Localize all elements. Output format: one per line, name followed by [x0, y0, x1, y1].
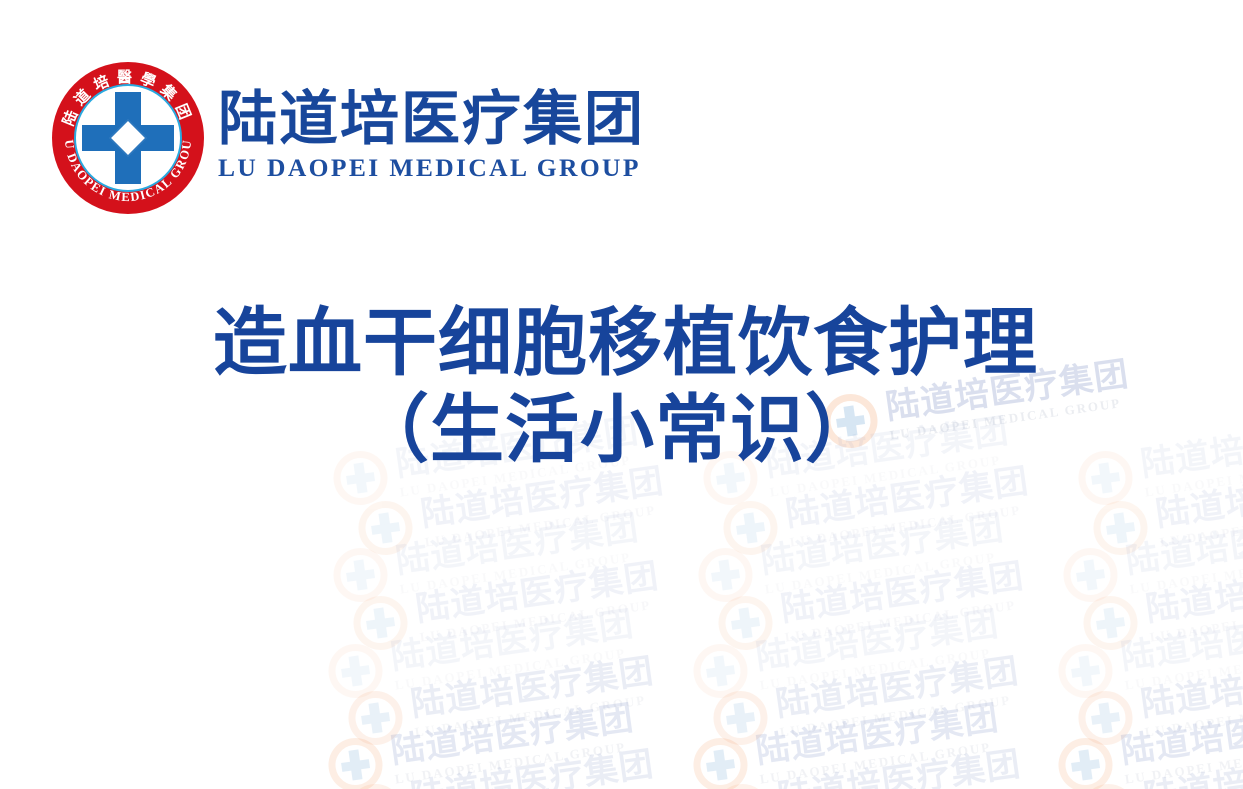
- watermark-ring: [712, 780, 773, 789]
- watermark-text-cn: 陆道培医疗集团: [1139, 653, 1243, 721]
- watermark-text: 陆道培医疗集团LU DAOPEI MEDICAL GROUP: [779, 558, 1029, 643]
- watermark-cross-vertical: [733, 702, 747, 733]
- watermark-emblem-icon: [720, 497, 781, 558]
- watermark-cross-vertical: [743, 512, 757, 543]
- brand-name-en: LU DAOPEI MEDICAL GROUP: [218, 153, 645, 183]
- watermark-tile: 陆道培医疗集团LU DAOPEI MEDICAL GROUP: [325, 699, 639, 789]
- watermark-tile: 陆道培医疗集团LU DAOPEI MEDICAL GROUP: [330, 509, 644, 605]
- watermark-cross-horizontal: [1096, 617, 1125, 630]
- watermark-cross-horizontal: [1076, 569, 1105, 582]
- watermark-emblem-icon: [715, 592, 776, 653]
- watermark-tile: 陆道培医疗集团LU DAOPEI MEDICAL GROUP: [345, 745, 659, 789]
- watermark-text-cn: 陆道培医疗集团: [394, 510, 641, 578]
- watermark-ring: [1060, 544, 1121, 605]
- watermark-text-cn: 陆道培医疗集团: [1119, 606, 1243, 674]
- watermark-emblem-icon: [345, 780, 406, 789]
- watermark-tile: 陆道培医疗集团LU DAOPEI MEDICAL GROUP: [1080, 557, 1243, 653]
- watermark-cross-horizontal: [361, 712, 390, 725]
- brand-header: 陆道培醫學集团 LU DAOPEI MEDICAL GROUP 陆道培医疗集团 …: [52, 62, 645, 214]
- watermark-cross-vertical: [348, 749, 362, 780]
- watermark-text-en: LU DAOPEI MEDICAL GROUP: [784, 596, 1028, 643]
- watermark-cross-horizontal: [706, 759, 735, 772]
- watermark-text-en: LU DAOPEI MEDICAL GROUP: [414, 691, 658, 738]
- watermark-cross-horizontal: [371, 522, 400, 535]
- watermark-text: 陆道培医疗集团LU DAOPEI MEDICAL GROUP: [1119, 700, 1243, 785]
- watermark-text-cn: 陆道培医疗集团: [414, 558, 661, 626]
- watermark-text-cn: 陆道培医疗集团: [774, 653, 1021, 721]
- watermark-ring: [330, 544, 391, 605]
- watermark-emblem-icon: [1078, 780, 1139, 789]
- watermark-text-en: LU DAOPEI MEDICAL GROUP: [759, 644, 1003, 691]
- watermark-emblem-icon: [325, 640, 386, 701]
- watermark-text-cn: 陆道培医疗集团: [409, 746, 656, 789]
- watermark-text-en: LU DAOPEI MEDICAL GROUP: [1144, 691, 1243, 738]
- watermark-cross-horizontal: [1071, 665, 1100, 678]
- watermark-cross-vertical: [1103, 607, 1117, 638]
- watermark-emblem-icon: [1060, 544, 1121, 605]
- watermark-emblem-icon: [355, 497, 416, 558]
- watermark-tile: 陆道培医疗集团LU DAOPEI MEDICAL GROUP: [690, 699, 1004, 789]
- watermark-cross-horizontal: [1091, 712, 1120, 725]
- watermark-text: 陆道培医疗集团LU DAOPEI MEDICAL GROUP: [414, 558, 664, 643]
- slide-title-line-1: 造血干细胞移植饮食护理: [8, 300, 1243, 387]
- watermark-text-en: LU DAOPEI MEDICAL GROUP: [789, 501, 1033, 548]
- watermark-text: 陆道培医疗集团LU DAOPEI MEDICAL GROUP: [1119, 606, 1243, 691]
- watermark-text-en: LU DAOPEI MEDICAL GROUP: [1124, 738, 1243, 785]
- watermark-emblem-icon: [330, 544, 391, 605]
- watermark-tile: 陆道培医疗集团LU DAOPEI MEDICAL GROUP: [1075, 652, 1243, 748]
- watermark-tile: 陆道培医疗集团LU DAOPEI MEDICAL GROUP: [695, 509, 1009, 605]
- watermark-text-cn: 陆道培医疗集团: [779, 558, 1026, 626]
- watermark-emblem-icon: [350, 592, 411, 653]
- watermark-ring: [1090, 497, 1151, 558]
- watermark-emblem-icon: [690, 734, 751, 789]
- watermark-tile: 陆道培医疗集团LU DAOPEI MEDICAL GROUP: [1055, 699, 1243, 789]
- watermark-cross-horizontal: [341, 665, 370, 678]
- watermark-text-cn: 陆道培医疗集团: [754, 700, 1001, 768]
- watermark-emblem-icon: [1075, 687, 1136, 748]
- watermark-tile: 陆道培医疗集团LU DAOPEI MEDICAL GROUP: [1078, 745, 1243, 789]
- brand-name-cn: 陆道培医疗集团: [218, 89, 645, 149]
- watermark-text: 陆道培医疗集团LU DAOPEI MEDICAL GROUP: [419, 463, 669, 548]
- watermark-text-cn: 陆道培医疗集团: [1142, 746, 1243, 789]
- watermark-text: 陆道培医疗集团LU DAOPEI MEDICAL GROUP: [1124, 510, 1243, 595]
- watermark-text-en: LU DAOPEI MEDICAL GROUP: [1159, 501, 1243, 548]
- watermark-ring: [715, 592, 776, 653]
- watermark-tile: 陆道培医疗集团LU DAOPEI MEDICAL GROUP: [350, 557, 664, 653]
- watermark-ring: [355, 497, 416, 558]
- watermark-cross-horizontal: [346, 569, 375, 582]
- watermark-cross-horizontal: [341, 759, 370, 772]
- watermark-cross-vertical: [1083, 559, 1097, 590]
- watermark-tile: 陆道培医疗集团LU DAOPEI MEDICAL GROUP: [345, 652, 659, 748]
- watermark-cross-vertical: [1098, 702, 1112, 733]
- lu-daopei-emblem-icon: 陆道培醫學集团 LU DAOPEI MEDICAL GROUP: [52, 62, 204, 214]
- brand-wordmark: 陆道培医疗集团 LU DAOPEI MEDICAL GROUP: [218, 89, 645, 187]
- watermark-tile: 陆道培医疗集团LU DAOPEI MEDICAL GROUP: [1060, 509, 1243, 605]
- watermark-text-en: LU DAOPEI MEDICAL GROUP: [1147, 784, 1243, 789]
- watermark-tile: 陆道培医疗集团LU DAOPEI MEDICAL GROUP: [690, 605, 1004, 701]
- watermark-ring: [695, 544, 756, 605]
- watermark-cross-vertical: [713, 655, 727, 686]
- watermark-emblem-icon: [1080, 592, 1141, 653]
- watermark-cross-vertical: [1078, 749, 1092, 780]
- watermark-cross-vertical: [713, 749, 727, 780]
- watermark-text-en: LU DAOPEI MEDICAL GROUP: [759, 738, 1003, 785]
- watermark-ring: [690, 734, 751, 789]
- presentation-slide: 陆道培医疗集团LU DAOPEI MEDICAL GROUP陆道培医疗集团LU …: [0, 0, 1243, 789]
- watermark-ring: [1055, 640, 1116, 701]
- watermark-text: 陆道培医疗集团LU DAOPEI MEDICAL GROUP: [389, 606, 639, 691]
- watermark-tile: 陆道培医疗集团LU DAOPEI MEDICAL GROUP: [1055, 605, 1243, 701]
- watermark-ring: [345, 780, 406, 789]
- watermark-tile: 陆道培医疗集团LU DAOPEI MEDICAL GROUP: [720, 462, 1034, 558]
- watermark-cross-vertical: [353, 559, 367, 590]
- watermark-cross-vertical: [348, 655, 362, 686]
- watermark-text-cn: 陆道培医疗集团: [759, 510, 1006, 578]
- watermark-emblem-icon: [710, 687, 771, 748]
- watermark-emblem-icon: [325, 734, 386, 789]
- watermark-text: 陆道培医疗集团LU DAOPEI MEDICAL GROUP: [409, 746, 659, 789]
- watermark-emblem-icon: [690, 640, 751, 701]
- watermark-ring: [720, 497, 781, 558]
- watermark-tile: 陆道培医疗集团LU DAOPEI MEDICAL GROUP: [1090, 462, 1243, 558]
- watermark-text-en: LU DAOPEI MEDICAL GROUP: [1129, 548, 1243, 595]
- watermark-text-cn: 陆道培医疗集团: [1119, 700, 1243, 768]
- watermark-ring: [1075, 687, 1136, 748]
- watermark-text: 陆道培医疗集团LU DAOPEI MEDICAL GROUP: [759, 510, 1009, 595]
- watermark-text-en: LU DAOPEI MEDICAL GROUP: [394, 738, 638, 785]
- watermark-emblem-icon: [1055, 734, 1116, 789]
- watermark-text: 陆道培医疗集团LU DAOPEI MEDICAL GROUP: [394, 510, 644, 595]
- watermark-tile: 陆道培医疗集团LU DAOPEI MEDICAL GROUP: [325, 605, 639, 701]
- watermark-cross-vertical: [738, 607, 752, 638]
- watermark-text-en: LU DAOPEI MEDICAL GROUP: [1149, 596, 1243, 643]
- watermark-text-cn: 陆道培医疗集团: [776, 746, 1023, 789]
- watermark-text-en: LU DAOPEI MEDICAL GROUP: [394, 644, 638, 691]
- watermark-cross-horizontal: [706, 665, 735, 678]
- watermark-ring: [710, 687, 771, 748]
- watermark-text-en: LU DAOPEI MEDICAL GROUP: [414, 784, 658, 789]
- slide-title-line-2: （生活小常识）: [0, 387, 1243, 474]
- watermark-cross-vertical: [378, 512, 392, 543]
- watermark-text-cn: 陆道培医疗集团: [754, 606, 1001, 674]
- watermark-ring: [345, 687, 406, 748]
- watermark-emblem-icon: [1090, 497, 1151, 558]
- watermark-cross-horizontal: [1106, 522, 1135, 535]
- watermark-cross-vertical: [373, 607, 387, 638]
- watermark-text: 陆道培医疗集团LU DAOPEI MEDICAL GROUP: [754, 606, 1004, 691]
- watermark-ring: [350, 592, 411, 653]
- slide-title-block: 造血干细胞移植饮食护理 （生活小常识）: [0, 300, 1243, 475]
- watermark-ring: [325, 734, 386, 789]
- watermark-text: 陆道培医疗集团LU DAOPEI MEDICAL GROUP: [389, 700, 639, 785]
- watermark-text: 陆道培医疗集团LU DAOPEI MEDICAL GROUP: [1142, 746, 1243, 789]
- watermark-text: 陆道培医疗集团LU DAOPEI MEDICAL GROUP: [774, 653, 1024, 738]
- watermark-emblem-icon: [712, 780, 773, 789]
- watermark-cross-horizontal: [731, 617, 760, 630]
- watermark-tile: 陆道培医疗集团LU DAOPEI MEDICAL GROUP: [355, 462, 669, 558]
- watermark-text-en: LU DAOPEI MEDICAL GROUP: [419, 596, 663, 643]
- watermark-tile: 陆道培医疗集团LU DAOPEI MEDICAL GROUP: [712, 745, 1026, 789]
- watermark-text: 陆道培医疗集团LU DAOPEI MEDICAL GROUP: [1139, 653, 1243, 738]
- watermark-ring: [1080, 592, 1141, 653]
- watermark-text: 陆道培医疗集团LU DAOPEI MEDICAL GROUP: [754, 700, 1004, 785]
- watermark-text-cn: 陆道培医疗集团: [1144, 558, 1243, 626]
- watermark-text-en: LU DAOPEI MEDICAL GROUP: [764, 548, 1008, 595]
- watermark-emblem-icon: [695, 544, 756, 605]
- watermark-text: 陆道培医疗集团LU DAOPEI MEDICAL GROUP: [1144, 558, 1243, 643]
- watermark-ring: [1055, 734, 1116, 789]
- watermark-text: 陆道培医疗集团LU DAOPEI MEDICAL GROUP: [409, 653, 659, 738]
- watermark-text-en: LU DAOPEI MEDICAL GROUP: [424, 501, 668, 548]
- watermark-cross-horizontal: [366, 617, 395, 630]
- watermark-emblem-icon: [345, 687, 406, 748]
- watermark-text-en: LU DAOPEI MEDICAL GROUP: [399, 548, 643, 595]
- watermark-text-cn: 陆道培医疗集团: [389, 700, 636, 768]
- watermark-text: 陆道培医疗集团LU DAOPEI MEDICAL GROUP: [784, 463, 1034, 548]
- watermark-text: 陆道培医疗集团LU DAOPEI MEDICAL GROUP: [1154, 463, 1243, 548]
- watermark-text-cn: 陆道培医疗集团: [1124, 510, 1243, 578]
- watermark-cross-horizontal: [711, 569, 740, 582]
- watermark-text-en: LU DAOPEI MEDICAL GROUP: [1124, 644, 1243, 691]
- watermark-cross-horizontal: [726, 712, 755, 725]
- watermark-tile: 陆道培医疗集团LU DAOPEI MEDICAL GROUP: [710, 652, 1024, 748]
- watermark-cross-horizontal: [736, 522, 765, 535]
- watermark-cross-vertical: [1113, 512, 1127, 543]
- watermark-emblem-icon: [1055, 640, 1116, 701]
- watermark-cross-vertical: [1078, 655, 1092, 686]
- watermark-ring: [1078, 780, 1139, 789]
- watermark-cross-vertical: [368, 702, 382, 733]
- watermark-text-en: LU DAOPEI MEDICAL GROUP: [779, 691, 1023, 738]
- watermark-text-cn: 陆道培医疗集团: [409, 653, 656, 721]
- watermark-cross-horizontal: [1071, 759, 1100, 772]
- watermark-text-cn: 陆道培医疗集团: [389, 606, 636, 674]
- watermark-tile: 陆道培医疗集团LU DAOPEI MEDICAL GROUP: [715, 557, 1029, 653]
- watermark-text: 陆道培医疗集团LU DAOPEI MEDICAL GROUP: [776, 746, 1026, 789]
- watermark-text-en: LU DAOPEI MEDICAL GROUP: [781, 784, 1025, 789]
- watermark-cross-vertical: [718, 559, 732, 590]
- watermark-ring: [325, 640, 386, 701]
- watermark-ring: [690, 640, 751, 701]
